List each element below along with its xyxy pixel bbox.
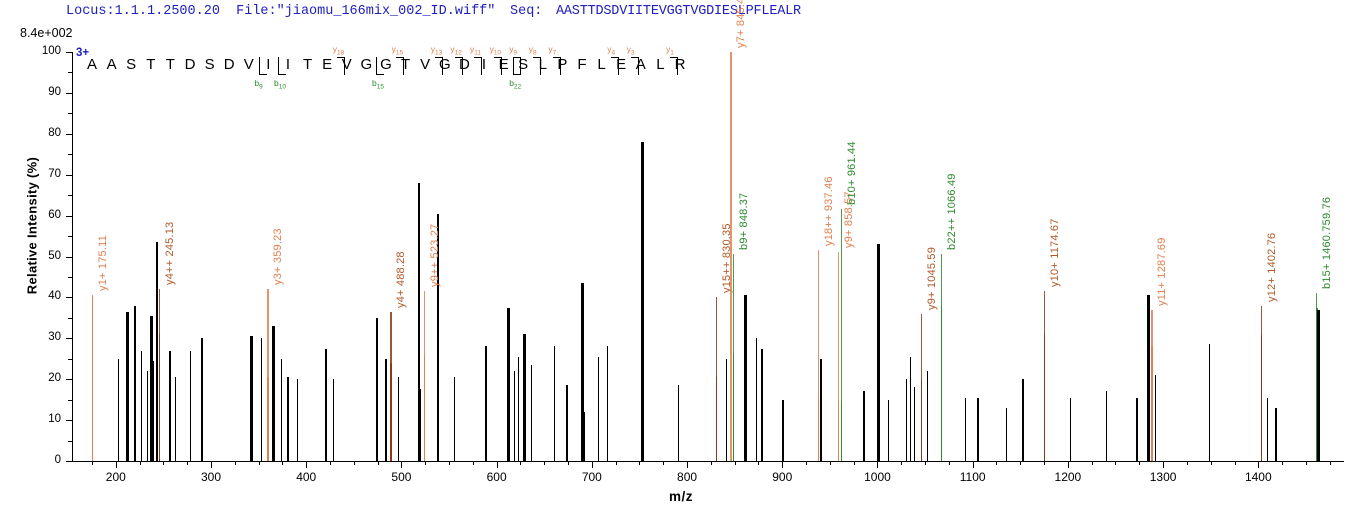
x-tick — [354, 461, 355, 465]
y-tick-label: 40 — [35, 290, 61, 302]
y-axis-line — [72, 52, 73, 461]
y-ion-marker: y9 — [509, 44, 517, 57]
x-tick — [973, 461, 974, 468]
y-ion-marker: y18 — [333, 44, 344, 57]
x-tick — [163, 461, 164, 465]
spectrum-peak — [863, 391, 864, 461]
spectrum-peak — [261, 338, 262, 461]
fragment-bracket — [494, 57, 502, 75]
y-ion-marker: y15 — [392, 44, 403, 57]
x-axis-title: m/z — [0, 489, 1362, 504]
residue-letter: F — [573, 56, 591, 73]
x-tick — [782, 461, 783, 468]
spectrum-peak — [598, 357, 599, 461]
ion-annotation-label: y1+ 175.11 — [97, 235, 109, 291]
x-tick — [1187, 461, 1188, 465]
annotation-stem — [159, 289, 160, 461]
y-ion-marker: y10 — [490, 44, 501, 57]
ion-annotation-label: y9+ 1045.59 — [926, 247, 938, 310]
spectrum-peak — [201, 338, 202, 461]
y-tick — [66, 379, 72, 380]
spectrum-peak — [1209, 344, 1210, 461]
spectrum-peak — [1022, 379, 1023, 461]
x-tick — [806, 461, 807, 465]
x-tick — [187, 461, 188, 465]
x-tick — [1282, 461, 1283, 465]
spectrum-peak — [1155, 375, 1156, 461]
sequence-ladder: 3+ AASTTDSDVIITEVGGTVGDIESLPFLEALRy18y15… — [0, 44, 1362, 96]
x-tick-label: 900 — [758, 470, 806, 484]
fragment-bracket — [337, 57, 345, 75]
y-tick-label-wrap: 20 — [33, 372, 61, 384]
annotation-stem — [92, 295, 93, 461]
x-tick-label: 600 — [473, 470, 521, 484]
spectrum-peak — [518, 357, 519, 461]
ion-annotation-label: y11+ 1287.69 — [1156, 237, 1168, 306]
y-tick-label-wrap: 10 — [33, 413, 61, 425]
residue-letter: E — [318, 56, 336, 73]
annotation-stem — [733, 254, 734, 461]
y-tick-label: 0 — [35, 454, 61, 466]
residue-letter: G — [357, 56, 375, 73]
x-tick — [663, 461, 664, 465]
x-tick — [330, 461, 331, 465]
spectrum-peak — [877, 244, 880, 461]
spectrum-peak — [190, 351, 191, 461]
fragment-bracket — [474, 57, 482, 75]
y-tick-label: 60 — [35, 209, 61, 221]
y-tick-label: 70 — [35, 168, 61, 180]
y-tick — [68, 154, 72, 155]
x-tick — [1068, 461, 1069, 468]
residue-letter: T — [161, 56, 179, 73]
ion-annotation-label: b10+ 961.44 — [846, 142, 858, 206]
spectrum-peak — [333, 379, 334, 461]
x-tick — [592, 461, 593, 468]
spectrum-peak — [1317, 310, 1320, 461]
y-tick — [66, 461, 72, 462]
fragment-bracket — [455, 57, 463, 75]
x-tick — [735, 461, 736, 465]
x-tick — [996, 461, 997, 465]
spectrum-peak — [726, 359, 727, 461]
y-ion-marker: y12 — [450, 44, 461, 57]
y-tick-label-wrap: 70 — [33, 168, 61, 180]
y-tick-label: 30 — [35, 331, 61, 343]
x-tick — [92, 461, 93, 465]
spectrum-peak — [325, 349, 326, 461]
residue-letter: A — [83, 56, 101, 73]
spectrum-peak — [420, 389, 421, 461]
spectrum-peak — [782, 400, 783, 461]
annotation-stem — [424, 291, 425, 461]
spectrum-peak — [583, 412, 584, 461]
spectrum-peak — [147, 371, 148, 461]
spectrum-peak — [965, 398, 966, 461]
spectrum-peak — [1275, 408, 1276, 461]
spectrum-peak — [376, 318, 379, 461]
fragment-bracket — [513, 57, 521, 75]
y-tick-label-wrap: 80 — [33, 127, 61, 139]
x-tick-label: 800 — [663, 470, 711, 484]
spectrum-peak — [820, 359, 821, 461]
x-tick — [401, 461, 402, 468]
x-tick — [378, 461, 379, 465]
x-axis-line — [72, 461, 1344, 462]
y-ion-marker: y11 — [470, 44, 481, 57]
spectrum-peak — [641, 142, 644, 461]
x-tick — [901, 461, 902, 465]
annotation-stem — [267, 289, 268, 461]
residue-letter: L — [593, 56, 611, 73]
x-tick — [568, 461, 569, 465]
spectrum-peak — [523, 334, 526, 461]
fragment-bracket — [435, 57, 443, 75]
annotation-stem — [1044, 291, 1045, 461]
spectrum-peak — [507, 308, 510, 461]
annotation-stem — [1261, 306, 1262, 461]
x-tick — [1306, 461, 1307, 465]
spectrum-peak — [744, 295, 747, 461]
x-tick — [1235, 461, 1236, 465]
x-tick — [877, 461, 878, 468]
x-tick — [425, 461, 426, 465]
y-ion-marker: y1 — [666, 44, 674, 57]
ion-annotation-label: b15+ 1460.759.76 — [1321, 197, 1333, 289]
ion-annotation-label: y18++ 937.46 — [823, 177, 835, 247]
x-tick — [116, 461, 117, 468]
spectrum-peak — [607, 346, 608, 461]
x-tick — [1211, 461, 1212, 465]
ion-annotation-label: y9++ 523.27 — [429, 224, 441, 287]
ion-annotation-label: b9+ 848.37 — [738, 193, 750, 250]
ion-annotation-label: b22++ 1066.49 — [946, 174, 958, 251]
x-tick — [211, 461, 212, 468]
spectrum-peak — [134, 306, 137, 461]
spectrum-peak — [118, 359, 119, 461]
residue-letter: L — [651, 56, 669, 73]
annotation-stem — [1316, 293, 1317, 461]
y-tick — [68, 359, 72, 360]
x-tick-label: 700 — [568, 470, 616, 484]
x-tick-label: 400 — [282, 470, 330, 484]
y-tick — [66, 216, 72, 217]
x-tick — [639, 461, 640, 465]
spectrum-peak — [566, 385, 567, 461]
y-tick-label-wrap: 0 — [33, 454, 61, 466]
fragment-bracket — [278, 57, 286, 75]
annotation-stem — [390, 312, 391, 461]
residue-letter: D — [181, 56, 199, 73]
spectrum-peak — [906, 379, 907, 461]
fragment-bracket — [533, 57, 541, 75]
residue-letter: D — [220, 56, 238, 73]
x-tick-label: 1300 — [1139, 470, 1187, 484]
fragment-bracket — [631, 57, 639, 75]
fragment-bracket — [611, 57, 619, 75]
spectrum-peak — [914, 387, 915, 461]
spectrum-peak — [250, 336, 253, 461]
x-tick — [1139, 461, 1140, 465]
spectrum-peak — [531, 365, 532, 461]
spectrum-peak — [761, 349, 762, 461]
b-ion-marker: b15 — [372, 78, 384, 91]
spectrum-peak — [1136, 398, 1137, 461]
y-tick — [66, 175, 72, 176]
x-tick — [1044, 461, 1045, 465]
y-tick — [66, 338, 72, 339]
y-tick — [68, 318, 72, 319]
y-tick — [68, 236, 72, 237]
b-ion-marker: b22 — [509, 78, 521, 91]
x-tick — [687, 461, 688, 468]
y-ion-marker: y3 — [627, 44, 635, 57]
annotation-stem — [716, 297, 717, 461]
y-tick-label: 50 — [35, 250, 61, 262]
x-tick — [925, 461, 926, 465]
y-tick-label: 20 — [35, 372, 61, 384]
y-tick — [68, 400, 72, 401]
x-tick — [1258, 461, 1259, 468]
x-tick — [830, 461, 831, 465]
y-tick-label-wrap: 50 — [33, 250, 61, 262]
y-tick-label: 10 — [35, 413, 61, 425]
spectrum-peak — [126, 312, 129, 461]
ion-annotation-label: y3+ 359.23 — [272, 228, 284, 285]
spectrum-peak — [1006, 408, 1007, 461]
y-tick — [66, 297, 72, 298]
spectrum-peak — [485, 346, 486, 461]
annotation-stem — [838, 252, 839, 461]
annotation-stem — [921, 314, 922, 461]
spectrum-peak — [1267, 398, 1268, 461]
annotation-stem — [1151, 310, 1152, 461]
fragment-bracket — [259, 57, 267, 75]
x-tick — [544, 461, 545, 465]
spectrum-peak — [1070, 398, 1071, 461]
spectrum-peak — [1147, 295, 1150, 461]
y-ion-marker: y13 — [431, 44, 442, 57]
residue-letter: V — [416, 56, 434, 73]
x-tick — [520, 461, 521, 465]
x-tick-label: 200 — [92, 470, 140, 484]
y-ion-marker: y7 — [548, 44, 556, 57]
x-tick — [1163, 461, 1164, 468]
y-tick — [66, 134, 72, 135]
b-ion-marker: b9 — [254, 78, 262, 91]
x-tick — [758, 461, 759, 465]
residue-letter: V — [240, 56, 258, 73]
x-tick — [449, 461, 450, 465]
x-tick — [497, 461, 498, 468]
y-tick — [66, 257, 72, 258]
x-tick-label: 300 — [187, 470, 235, 484]
x-tick — [949, 461, 950, 465]
b-ion-marker: b10 — [274, 78, 286, 91]
y-ion-marker: y4 — [607, 44, 615, 57]
x-tick-label: 1100 — [949, 470, 997, 484]
x-tick — [140, 461, 141, 465]
residue-letter: S — [122, 56, 140, 73]
fragment-bracket — [396, 57, 404, 75]
annotation-stem — [730, 52, 731, 461]
spectrum-peak — [287, 377, 288, 461]
x-tick — [235, 461, 236, 465]
x-tick — [282, 461, 283, 465]
y-tick — [68, 195, 72, 196]
annotation-stem — [818, 250, 819, 461]
spectrum-peak — [297, 379, 298, 461]
y-tick-label: 80 — [35, 127, 61, 139]
spectrum-viewer: Locus:1.1.1.2500.20 File:"jiaomu_166mix_… — [0, 0, 1362, 520]
y-ion-marker: y8 — [529, 44, 537, 57]
spectrum-peak — [1106, 391, 1107, 461]
ion-annotation-label: y12+ 1402.76 — [1266, 232, 1278, 301]
x-tick — [1020, 461, 1021, 465]
x-tick — [1115, 461, 1116, 465]
x-tick — [854, 461, 855, 465]
residue-letter: A — [103, 56, 121, 73]
spectrum-peak — [454, 377, 455, 461]
y-tick — [66, 420, 72, 421]
spectrum-peak — [888, 400, 889, 461]
spectrum-peak — [927, 371, 928, 461]
spectrum-peak — [910, 357, 911, 461]
spectrum-peak — [169, 351, 170, 461]
ion-annotation-label: y4++ 245.13 — [164, 222, 176, 285]
fragment-bracket — [553, 57, 561, 75]
x-tick-label: 1200 — [1044, 470, 1092, 484]
x-tick — [616, 461, 617, 465]
spectrum-peak — [175, 377, 176, 461]
y-tick — [68, 113, 72, 114]
fragment-bracket — [376, 57, 384, 75]
x-tick-label: 1400 — [1234, 470, 1282, 484]
spectrum-peak — [153, 361, 154, 461]
x-tick — [1330, 461, 1331, 465]
spectrum-peak — [514, 371, 515, 461]
y-tick-label-wrap: 60 — [33, 209, 61, 221]
ion-annotation-label: y10+ 1174.67 — [1049, 219, 1061, 288]
residue-letter: T — [142, 56, 160, 73]
ion-annotation-label: y7+ 845.4 — [735, 0, 747, 48]
y-tick-label-wrap: 30 — [33, 331, 61, 343]
y-tick — [68, 277, 72, 278]
x-tick — [1092, 461, 1093, 465]
x-tick-label: 500 — [377, 470, 425, 484]
fragment-bracket — [670, 57, 678, 75]
spectrum-peak — [281, 359, 282, 461]
spectrum-peak — [272, 326, 275, 461]
x-tick — [306, 461, 307, 468]
spectrum-peak — [554, 346, 555, 461]
spectrum-peak — [678, 385, 679, 461]
ion-annotation-label: y4+ 488.28 — [395, 251, 407, 308]
spectrum-peak — [977, 398, 978, 461]
annotation-stem — [941, 254, 942, 461]
x-tick — [259, 461, 260, 465]
x-tick — [711, 461, 712, 465]
spectrum-peak — [756, 338, 757, 461]
residue-letter: T — [299, 56, 317, 73]
x-tick — [473, 461, 474, 465]
annotation-stem — [841, 209, 842, 461]
x-tick-label: 1000 — [853, 470, 901, 484]
spectrum-peak — [398, 377, 399, 461]
spectrum-peak — [141, 351, 142, 461]
y-tick — [68, 441, 72, 442]
residue-letter: S — [201, 56, 219, 73]
spectrum-peak — [385, 359, 386, 461]
y-tick-label-wrap: 40 — [33, 290, 61, 302]
